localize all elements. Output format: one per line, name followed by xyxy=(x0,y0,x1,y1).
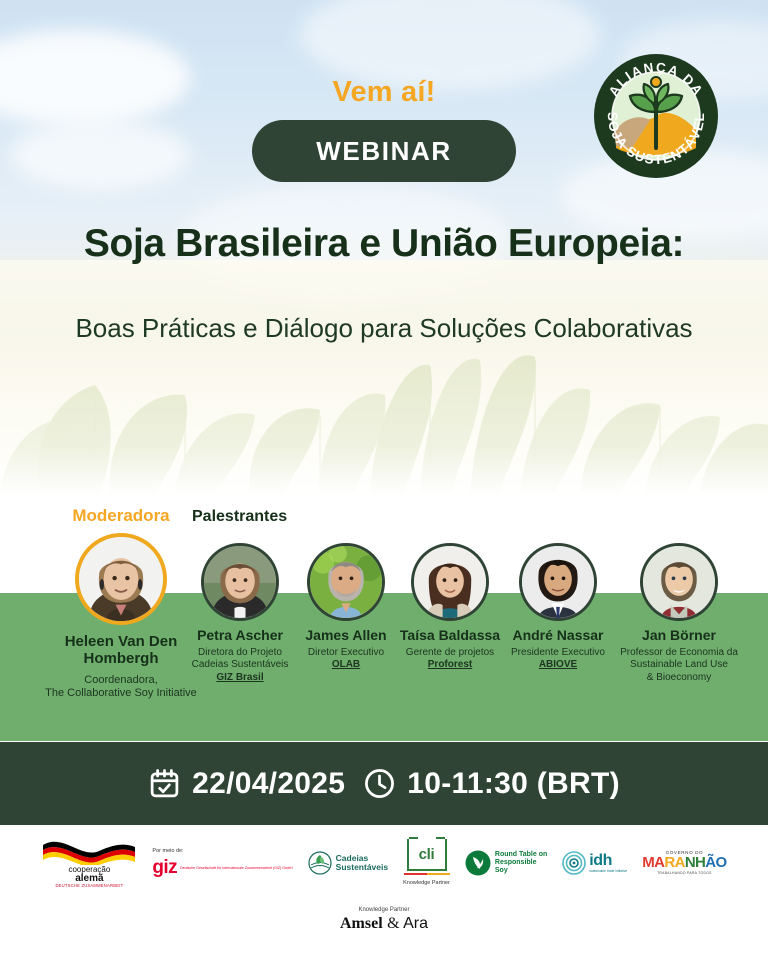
date-group: 22/04/2025 xyxy=(148,767,345,801)
rtrs-line1: Round Table on xyxy=(495,851,547,859)
speaker-role: Presidente Executivo ABIOVE xyxy=(500,647,616,672)
kp-ampersand: & xyxy=(387,915,399,932)
speaker-name: Jan Börner xyxy=(612,628,746,644)
speaker-card-petra-ascher: Petra Ascher Diretora do Projeto Cadeias… xyxy=(186,543,294,684)
maranhao-part-3: NH xyxy=(685,854,705,871)
avatar-photo-andre-nassar xyxy=(522,546,594,618)
speaker-role-line2: Cadeias Sustentáveis xyxy=(186,659,294,672)
por-meio-de-label: Por meio de: xyxy=(152,848,183,854)
speaker-org: & Bioeconomy xyxy=(612,672,746,685)
speaker-role: Gerente de projetos Proforest xyxy=(396,647,504,672)
avatar xyxy=(75,533,167,625)
moderator-org: The Collaborative Soy Initiative xyxy=(26,687,216,701)
speaker-card-james-allen: James Allen Diretor Executivo OLAB xyxy=(292,543,400,672)
partner-logo-row: cooperação alemã DEUTSCHE ZUSAMMENARBEIT… xyxy=(0,837,768,889)
speaker-role: Professor de Economia da Sustainable Lan… xyxy=(612,647,746,685)
rtrs-line3: Soy xyxy=(495,867,547,875)
speaker-card-taisa-baldassa: Taísa Baldassa Gerente de projetos Profo… xyxy=(396,543,504,672)
webinar-poster: Vem aí! WEBINAR ALIANÇA D xyxy=(0,0,768,960)
speaker-role-line1: Professor de Economia da xyxy=(612,647,746,660)
date-time-bar: 22/04/2025 10-11:30 (BRT) xyxy=(0,742,768,825)
speaker-role-line1: Diretora do Projeto xyxy=(186,647,294,660)
time-group: 10-11:30 (BRT) xyxy=(363,767,620,801)
coop-text-block: cooperação alemã DEUTSCHE ZUSAMMENARBEIT xyxy=(55,866,123,889)
speakers-heading: Palestrantes xyxy=(192,508,287,526)
speaker-card-jan-borner: Jan Börner Professor de Economia da Sust… xyxy=(612,543,746,684)
avatar xyxy=(640,543,718,621)
german-flag-ribbon-icon xyxy=(41,837,137,865)
avatar xyxy=(519,543,597,621)
avatar xyxy=(201,543,279,621)
moderator-heading: Moderadora xyxy=(36,506,206,526)
maranhao-subtitle: TRABALHANDO PARA TODOS xyxy=(657,871,712,875)
idh-spiral-icon xyxy=(562,851,586,875)
page-subtitle: Boas Práticas e Diálogo para Soluções Co… xyxy=(60,312,708,345)
page-title: Soja Brasileira e União Europeia: xyxy=(60,222,708,266)
speaker-card-andre-nassar: André Nassar Presidente Executivo ABIOVE xyxy=(500,543,616,672)
cadeias-line2: Sustentáveis xyxy=(336,863,388,872)
date-text: 22/04/2025 xyxy=(192,767,345,801)
logo-rtrs: Round Table on Responsible Soy xyxy=(465,850,547,876)
idh-wordmark: idh xyxy=(589,853,627,869)
hero-section: Vem aí! WEBINAR ALIANÇA D xyxy=(0,0,768,495)
avatar-photo-moderator xyxy=(79,537,163,621)
calendar-check-icon xyxy=(148,767,181,800)
cloud-shape xyxy=(10,120,190,190)
logo-giz: Por meio de: giz Deutsche Gesellschaft f… xyxy=(152,848,292,877)
logo-cli: cli Knowledge Partner xyxy=(403,839,450,886)
logo-cadeias-sustentaveis: Cadeias Sustentáveis xyxy=(308,851,388,875)
avatar-photo-jan-borner xyxy=(643,546,715,618)
avatar xyxy=(411,543,489,621)
speaker-role: Diretora do Projeto Cadeias Sustentáveis… xyxy=(186,647,294,685)
speaker-role: Diretor Executivo OLAB xyxy=(292,647,400,672)
kp-name-part1: Amsel xyxy=(340,915,383,932)
logo-governo-maranhao: GOVERNO DO MARANHÃO TRABALHANDO PARA TOD… xyxy=(642,850,726,875)
giz-lockup: giz Deutsche Gesellschaft für Internatio… xyxy=(152,858,292,877)
idh-subtitle: sustainable trade initiative xyxy=(589,869,627,873)
knowledge-partner-label: Knowledge Partner xyxy=(0,907,768,913)
kp-name-part2: Ara xyxy=(403,915,428,932)
speaker-name: Taísa Baldassa xyxy=(396,628,504,644)
maranhao-part-4: ÃO xyxy=(705,854,726,871)
speaker-name: André Nassar xyxy=(500,628,616,644)
knowledge-partner-block: Knowledge Partner Amsel & Ara xyxy=(0,907,768,933)
rtrs-line2: Responsible xyxy=(495,859,547,867)
footer-section: cooperação alemã DEUTSCHE ZUSAMMENARBEIT… xyxy=(0,825,768,960)
avatar-photo-james-allen xyxy=(310,546,382,618)
cli-wordmark: cli xyxy=(419,846,435,863)
speaker-role-line1: Diretor Executivo xyxy=(292,647,400,660)
speaker-org: ABIOVE xyxy=(500,659,616,672)
webinar-pill-label: WEBINAR xyxy=(316,136,451,167)
coop-line3: DEUTSCHE ZUSAMMENARBEIT xyxy=(55,884,123,888)
speaker-name: James Allen xyxy=(292,628,400,644)
logo-cooperacao-alema: cooperação alemã DEUTSCHE ZUSAMMENARBEIT xyxy=(41,837,137,889)
people-section: Moderadora Palestrantes xyxy=(0,495,768,742)
speaker-org: OLAB xyxy=(292,659,400,672)
maranhao-part-2: RA xyxy=(664,854,684,871)
cli-bar-red xyxy=(404,873,427,875)
cadeias-wordmark: Cadeias Sustentáveis xyxy=(336,854,388,872)
speaker-org: GIZ Brasil xyxy=(186,672,294,685)
soy-field-background-image xyxy=(0,265,768,495)
avatar-photo-taisa-baldassa xyxy=(414,546,486,618)
speaker-role-line1: Presidente Executivo xyxy=(500,647,616,660)
time-text: 10-11:30 (BRT) xyxy=(407,767,620,801)
webinar-pill-badge: WEBINAR xyxy=(252,120,516,182)
speaker-role-line2: Sustainable Land Use xyxy=(612,659,746,672)
clock-icon xyxy=(363,767,396,800)
alianca-soja-sustentavel-logo: ALIANÇA DA SOJA SUSTENTÁVEL xyxy=(592,52,720,180)
maranhao-part-1: MA xyxy=(642,854,664,871)
speaker-org: Proforest xyxy=(396,659,504,672)
speaker-name: Petra Ascher xyxy=(186,628,294,644)
speaker-role-line1: Gerente de projetos xyxy=(396,647,504,660)
cli-frame: cli xyxy=(407,839,447,871)
cli-bar-yellow xyxy=(427,873,450,875)
knowledge-partner-name: Amsel & Ara xyxy=(0,915,768,933)
avatar-photo-petra-ascher xyxy=(204,546,276,618)
maranhao-wordmark: MARANHÃO xyxy=(642,855,726,870)
cli-color-bars xyxy=(404,873,450,875)
cli-caption: Knowledge Partner xyxy=(403,880,450,886)
avatar xyxy=(307,543,385,621)
rtrs-wordmark: Round Table on Responsible Soy xyxy=(495,851,547,874)
giz-subtitle: Deutsche Gesellschaft für Internationale… xyxy=(180,866,293,870)
idh-text-block: idh sustainable trade initiative xyxy=(589,853,627,873)
giz-wordmark: giz xyxy=(152,858,177,877)
logo-idh: idh sustainable trade initiative xyxy=(562,851,627,875)
cadeias-leaf-icon xyxy=(308,851,332,875)
rtrs-circle-icon xyxy=(465,850,491,876)
